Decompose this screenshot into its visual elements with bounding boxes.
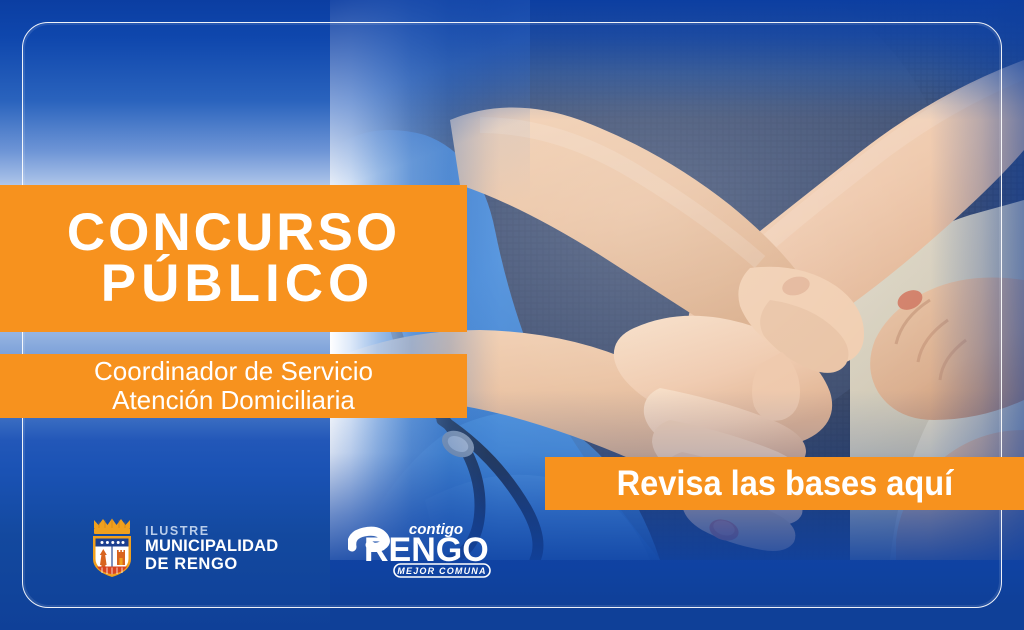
revisa-bases-button-label: Revisa las bases aquí bbox=[616, 464, 953, 504]
municipality-logo-line-2: MUNICIPALIDAD bbox=[145, 538, 278, 555]
subheadline-text-group: Coordinador de Servicio Atención Domicil… bbox=[0, 354, 467, 418]
headline-text-group: CONCURSO PÚBLICO bbox=[0, 185, 467, 332]
headline-line-1: CONCURSO bbox=[67, 208, 400, 259]
banner-root: CONCURSO PÚBLICO Coordinador de Servicio… bbox=[0, 0, 1024, 630]
municipality-logo[interactable]: ILUSTRE MUNICIPALIDAD DE RENGO bbox=[88, 518, 278, 580]
rengo-tagline: MEJOR COMUNA bbox=[398, 566, 487, 576]
municipality-logo-line-3: DE RENGO bbox=[145, 556, 278, 573]
logo-row: ILUSTRE MUNICIPALIDAD DE RENGO contigo R… bbox=[88, 512, 498, 586]
revisa-bases-button[interactable]: Revisa las bases aquí bbox=[545, 457, 1024, 510]
contigo-rengo-logo[interactable]: contigo RENGO MEJOR COMUNA bbox=[348, 517, 498, 581]
headline-line-2: PÚBLICO bbox=[93, 259, 375, 310]
subheadline-line-1: Coordinador de Servicio bbox=[94, 357, 373, 386]
municipality-logo-text: ILUSTRE MUNICIPALIDAD DE RENGO bbox=[145, 525, 278, 572]
coat-of-arms-icon bbox=[88, 518, 136, 580]
subheadline-line-2: Atención Domiciliaria bbox=[112, 386, 355, 415]
